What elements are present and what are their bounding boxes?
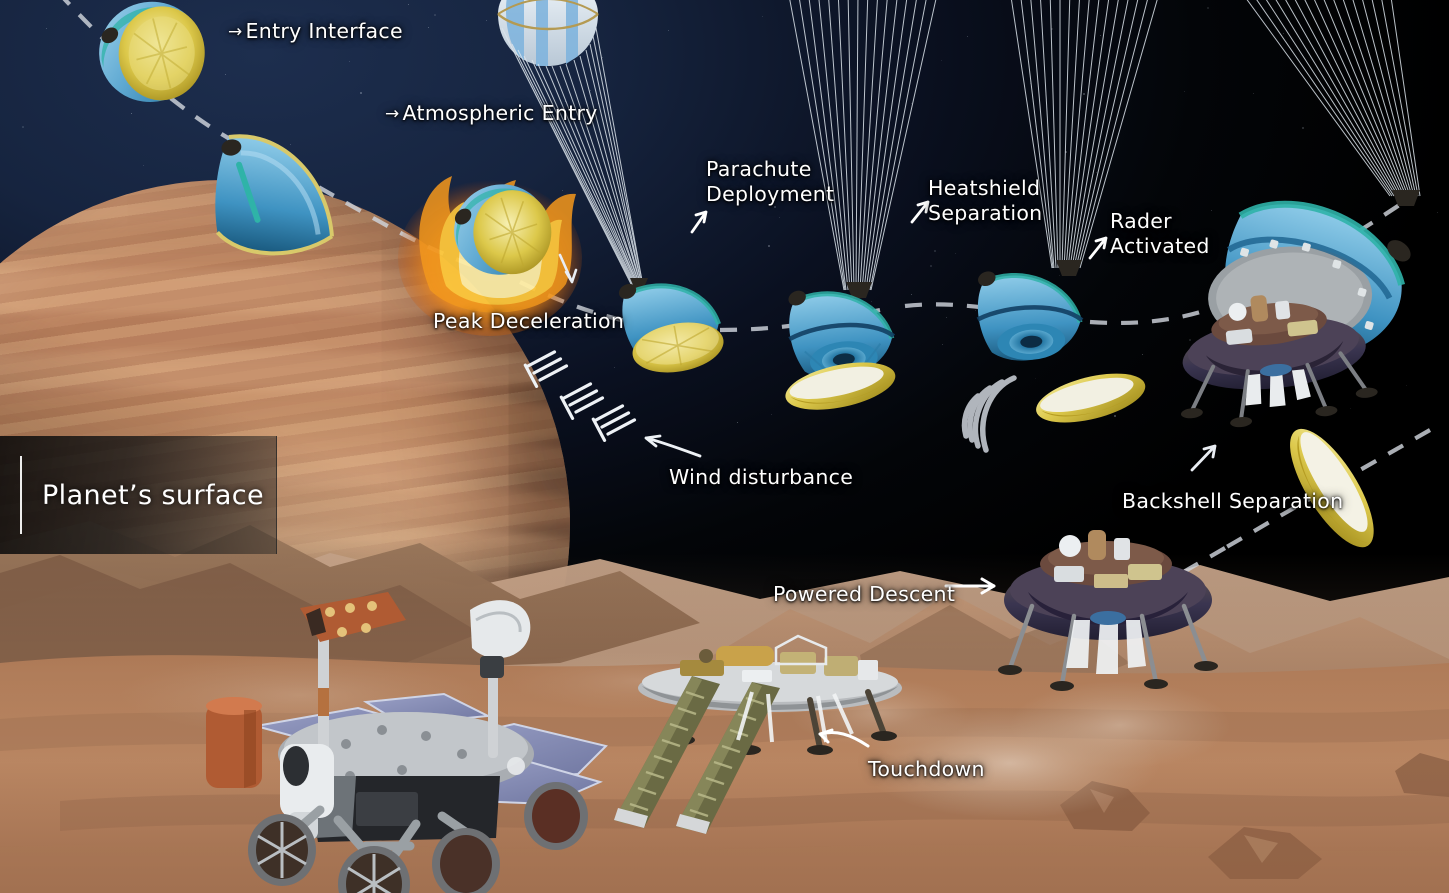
label-touchdown: Touchdown <box>868 757 985 782</box>
label-peak-deceleration: Peak Deceleration <box>433 309 624 334</box>
edl-sequence-diagram: →Entry Interface →Atmospheric Entry Peak… <box>0 0 1449 893</box>
heatshield-disc-2 <box>1031 364 1150 432</box>
lander-ramps <box>614 676 780 834</box>
label-parachute-deployment: Parachute Deployment <box>706 157 834 207</box>
parachute-white-2-riser <box>1056 260 1082 276</box>
rader-arrow-icon <box>1090 238 1106 258</box>
label-arrows <box>692 202 1106 258</box>
wind-arrow-icon <box>646 436 700 456</box>
label-entry-interface: →Entry Interface <box>228 19 403 44</box>
parachute-white-3 <box>1240 0 1420 196</box>
stage-rader-activated <box>974 263 1084 364</box>
stage-entry-interface <box>88 0 230 125</box>
label-heatshield-separation: Heatshield Separation <box>928 176 1042 226</box>
banner-accent-bar <box>20 456 22 534</box>
planet-surface-banner: Planet’s surface <box>0 436 277 554</box>
label-rader-activated: Rader Activated <box>1110 209 1210 259</box>
stage-powered-descent <box>946 530 1218 691</box>
label-backshell-separation: Backshell Separation <box>1122 489 1343 514</box>
stage-rover <box>206 592 606 893</box>
label-powered-descent: Powered Descent <box>773 582 955 607</box>
parachute-arrow-icon <box>692 212 706 232</box>
atmospheric-entry-arrow-icon: → <box>385 104 400 125</box>
parachute-white-1 <box>788 0 938 290</box>
entry-interface-arrow-icon: → <box>228 22 243 43</box>
heatshield-arrow-icon <box>912 202 928 222</box>
label-atmospheric-entry: →Atmospheric Entry <box>385 101 598 126</box>
label-wind-disturbance: Wind disturbance <box>669 465 853 490</box>
stage-touchdown <box>614 636 902 834</box>
backshell-sep-arrow-icon <box>1192 446 1215 470</box>
stage-atmospheric-entry <box>205 133 344 262</box>
radar-pulse-icon <box>965 378 1015 450</box>
banner-label: Planet’s surface <box>42 480 264 511</box>
parachute-white-3-riser <box>1392 190 1420 206</box>
